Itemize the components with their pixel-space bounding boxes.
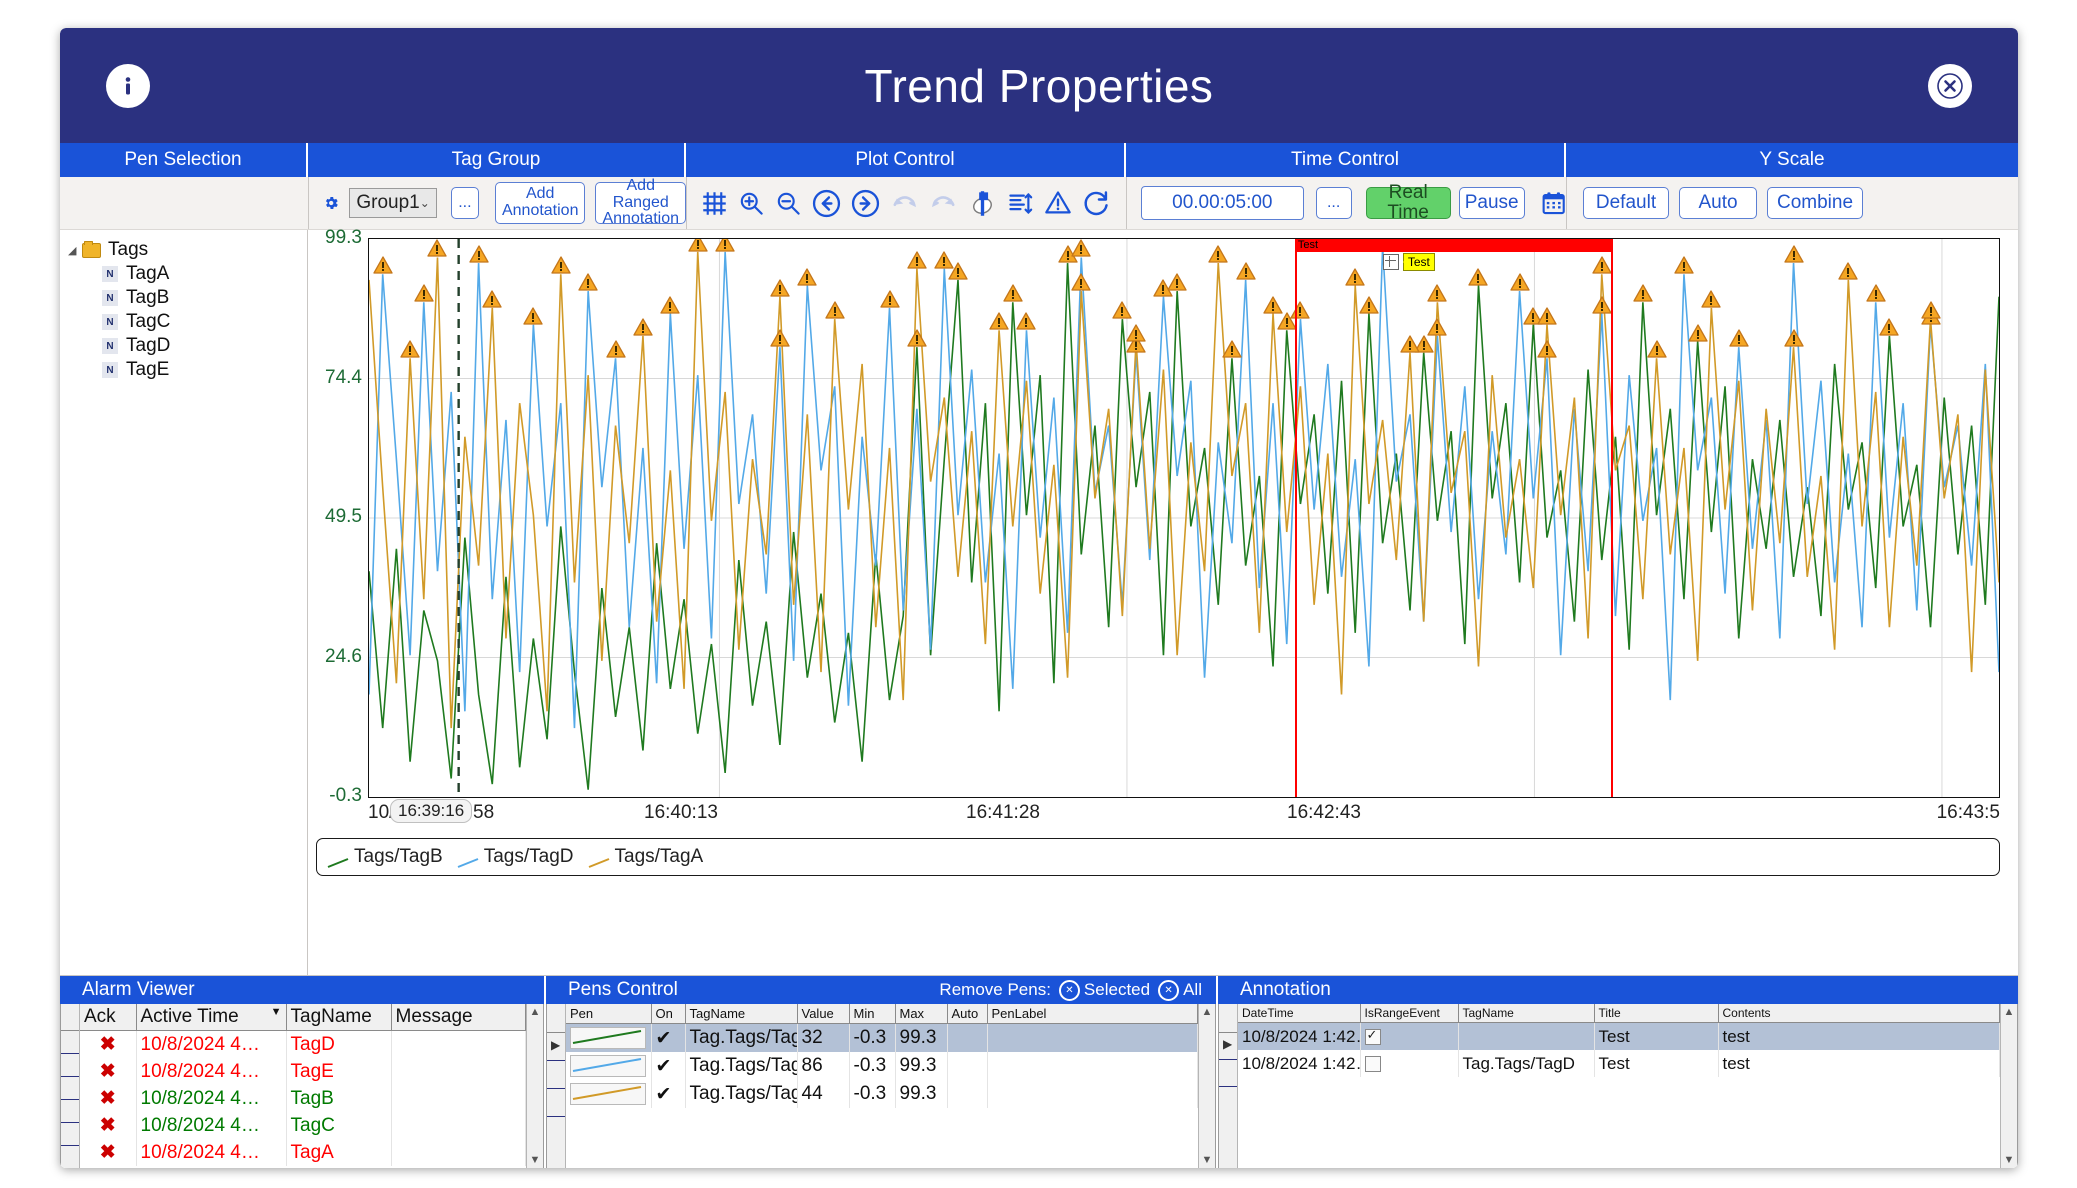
pen-max-cell: 99.3 <box>895 1080 947 1108</box>
alarm-table: Ack Active Time▼ TagName Message ✖10/8/2… <box>80 1004 526 1166</box>
warning-triangle-icon[interactable] <box>1290 301 1310 319</box>
warning-triangle-icon[interactable] <box>934 251 954 269</box>
add-annotation-line1: Add <box>502 186 579 203</box>
legend-swatch <box>588 852 610 862</box>
range-annotation-band[interactable]: Test <box>1295 239 1611 252</box>
tree-root-label: Tags <box>108 239 148 261</box>
remove-selected-radio[interactable]: ✕ Selected <box>1059 980 1150 1001</box>
redo-icon[interactable] <box>929 189 958 218</box>
pen-label-cell[interactable] <box>987 1052 1198 1080</box>
pens-header-row: Pen On TagName Value Min Max Auto PenLab… <box>566 1004 1198 1024</box>
undo-icon[interactable] <box>890 189 919 218</box>
range-start-line <box>1295 239 1297 797</box>
section-time-control: Time Control <box>1126 143 1566 177</box>
section-tag-group: Tag Group <box>308 143 686 177</box>
warning-triangle-icon[interactable] <box>1468 268 1488 286</box>
alarm-tag-cell: TagB <box>286 1085 391 1112</box>
alarm-col-tagname[interactable]: TagName <box>286 1004 391 1031</box>
pen-label-cell[interactable] <box>987 1080 1198 1108</box>
add-ranged-line1: Add Ranged <box>602 178 679 212</box>
legend-item-taga[interactable]: Tags/TagA <box>588 846 704 868</box>
alarm-time-cell: 10/8/2024 4… <box>136 1085 286 1112</box>
scale-icon[interactable] <box>1007 190 1034 217</box>
warning-triangle-icon[interactable] <box>989 312 1009 330</box>
remove-icon: ✕ <box>1158 980 1179 1001</box>
table-row[interactable]: ✔Tag.Tags/TagA44-0.399.3 <box>566 1080 1198 1108</box>
pens-col-penlabel[interactable]: PenLabel <box>987 1004 1198 1024</box>
anno-datetime-cell: 10/8/2024 1:42… <box>1238 1050 1360 1077</box>
warning-triangle-icon[interactable] <box>633 318 653 336</box>
numeric-tag-icon: N <box>102 290 118 306</box>
trend-chart[interactable]: 99.374.449.524.6-0.3 Test Test 10/8/ <box>308 230 2018 975</box>
warning-triangle-icon[interactable] <box>1153 279 1173 297</box>
anno-title-cell: Test <box>1594 1050 1718 1077</box>
tag-group-ellipsis-button[interactable]: ... <box>451 187 479 219</box>
alarm-tag-cell: TagC <box>286 1112 391 1139</box>
alarm-viewer-grid[interactable]: Ack Active Time▼ TagName Message ✖10/8/2… <box>60 1004 544 1168</box>
pen-color-swatch <box>570 1083 646 1105</box>
alarm-icon[interactable] <box>1044 189 1072 217</box>
tree-item-label: TagE <box>126 359 169 381</box>
pens-col-pen[interactable]: Pen <box>566 1004 651 1024</box>
page-title: Trend Properties <box>60 59 2018 113</box>
warning-triangle-icon[interactable] <box>414 284 434 302</box>
toolbar-pen-selection-area <box>60 177 308 229</box>
remove-all-label: All <box>1183 980 1202 1000</box>
warning-triangle-icon[interactable] <box>551 256 571 274</box>
section-y-scale: Y Scale <box>1566 143 2018 177</box>
checkbox[interactable] <box>1365 1056 1381 1072</box>
back-icon[interactable] <box>812 189 841 218</box>
warning-triangle-icon[interactable] <box>523 307 543 325</box>
warning-triangle-icon[interactable] <box>1427 318 1447 336</box>
main-toolbar: Group1 ⌄ ... Add Annotation Add Ranged A… <box>60 177 2018 230</box>
plot-area[interactable]: Test Test <box>368 238 2000 798</box>
table-row[interactable]: 10/8/2024 1:42…Testtest <box>1238 1023 2000 1051</box>
pen-swatch-cell[interactable] <box>566 1052 651 1080</box>
tag-group-select[interactable]: Group1 ⌄ <box>349 188 436 218</box>
pen-on-cell[interactable]: ✔ <box>651 1080 685 1108</box>
alarm-ack-cell[interactable]: ✖ <box>80 1112 136 1139</box>
warning-triangle-icon[interactable] <box>1359 296 1379 314</box>
pen-auto-cell[interactable] <box>947 1024 987 1053</box>
section-plot-control: Plot Control <box>686 143 1126 177</box>
y-tick-2: 49.5 <box>325 506 362 528</box>
pen-min-cell: -0.3 <box>849 1024 895 1053</box>
tree-node-tags[interactable]: ◢ Tags <box>64 238 307 262</box>
anno-col-tagname[interactable]: TagName <box>1458 1004 1594 1023</box>
warning-triangle-icon[interactable] <box>1236 262 1256 280</box>
warning-triangle-icon[interactable] <box>1729 329 1749 347</box>
warning-triangle-icon[interactable] <box>1208 245 1228 263</box>
warning-triangle-icon[interactable] <box>1263 296 1283 314</box>
alarm-col-message[interactable]: Message <box>391 1004 526 1031</box>
pens-scrollbar[interactable]: ▲ ▼ <box>1198 1004 1215 1168</box>
alarm-header-row: Ack Active Time▼ TagName Message <box>80 1004 526 1031</box>
pen-swatch-cell[interactable] <box>566 1080 651 1108</box>
pens-col-on[interactable]: On <box>651 1004 685 1024</box>
pens-control-panel: Pens Control Remove Pens: ✕ Selected ✕ A… <box>546 976 1218 1168</box>
x-tick-1: 16:40:13 <box>644 802 718 824</box>
tree-item-label: TagB <box>126 287 169 309</box>
warning-triangle-icon[interactable] <box>1537 340 1557 358</box>
warning-triangle-icon[interactable] <box>1345 268 1365 286</box>
alarm-row-headers <box>61 1004 80 1168</box>
pen-on-cell[interactable]: ✔ <box>651 1052 685 1080</box>
warning-triangle-icon[interactable] <box>907 251 927 269</box>
warning-triangle-icon[interactable] <box>606 340 626 358</box>
remove-icon: ✕ <box>1059 980 1080 1001</box>
alarm-message-cell <box>391 1031 526 1059</box>
pen-tag-cell: Tag.Tags/TagB <box>685 1024 797 1053</box>
tree-item-label: TagA <box>126 263 169 285</box>
pens-col-min[interactable]: Min <box>849 1004 895 1024</box>
section-pen-selection: Pen Selection <box>60 143 308 177</box>
alarm-message-cell <box>391 1085 526 1112</box>
pen-value-cell: 32 <box>797 1024 849 1053</box>
warning-triangle-icon[interactable] <box>1784 329 1804 347</box>
warning-triangle-icon[interactable] <box>1701 290 1721 308</box>
pen-on-cell[interactable]: ✔ <box>651 1024 685 1053</box>
toolbar-y-scale-area: Default Auto Combine <box>1567 177 2018 229</box>
y-tick-0: 99.3 <box>325 227 362 249</box>
zoom-out-icon[interactable] <box>775 190 802 217</box>
tree-node-tagb[interactable]: NTagB <box>64 286 307 310</box>
warning-triangle-icon[interactable] <box>578 273 598 291</box>
legend-item-tagd[interactable]: Tags/TagD <box>457 846 574 868</box>
chevron-down-icon[interactable]: ◢ <box>68 244 82 257</box>
scroll-down-icon[interactable]: ▼ <box>2004 1154 2015 1166</box>
grid-icon[interactable] <box>701 190 728 217</box>
warning-triangle-icon[interactable] <box>1592 296 1612 314</box>
y-tick-4: -0.3 <box>329 785 362 807</box>
pen-max-cell: 99.3 <box>895 1024 947 1053</box>
warning-triangle-icon[interactable] <box>482 290 502 308</box>
annotation-table: DateTime IsRangeEvent TagName Title Cont… <box>1238 1004 2000 1077</box>
warning-triangle-icon[interactable] <box>1592 256 1612 274</box>
warning-triangle-icon[interactable] <box>469 245 489 263</box>
tree-item-label: TagC <box>126 311 170 333</box>
warning-triangle-icon[interactable] <box>1003 284 1023 302</box>
x-cursor-tooltip: 16:39:16 <box>390 799 472 823</box>
x-axis-labels: 10/8/2 16:39:16 58 16:40:13 16:41:28 16:… <box>368 802 2000 832</box>
main-content: ◢ Tags NTagA NTagB NTagC NTagD NTagE 99.… <box>60 230 2018 975</box>
anno-col-datetime[interactable]: DateTime <box>1238 1004 1360 1023</box>
numeric-tag-icon: N <box>102 362 118 378</box>
pens-table: Pen On TagName Value Min Max Auto PenLab… <box>566 1004 1198 1108</box>
toolbar-plot-control-area <box>687 177 1126 229</box>
tree-node-tagc[interactable]: NTagC <box>64 310 307 334</box>
anno-col-title[interactable]: Title <box>1594 1004 1718 1023</box>
pen-max-cell: 99.3 <box>895 1052 947 1080</box>
table-row[interactable]: ✖10/8/2024 4…TagA <box>80 1139 526 1166</box>
warning-triangle-icon[interactable] <box>400 340 420 358</box>
x-tick-2: 16:41:28 <box>966 802 1040 824</box>
tree-node-tage[interactable]: NTagE <box>64 358 307 382</box>
chart-legend: Tags/TagB Tags/TagD Tags/TagA <box>316 838 2000 876</box>
warning-triangle-icon[interactable] <box>1427 284 1447 302</box>
anno-isrange-cell[interactable] <box>1360 1050 1458 1077</box>
legend-swatch <box>327 852 349 862</box>
warning-triangle-icon[interactable] <box>770 329 790 347</box>
tree-item-label: TagD <box>126 335 170 357</box>
plot-svg <box>369 239 1999 797</box>
x-tick-partial: 58 <box>473 802 494 824</box>
folder-icon <box>82 243 101 258</box>
pen-color-swatch <box>570 1027 646 1049</box>
pens-control-title: Pens Control Remove Pens: ✕ Selected ✕ A… <box>546 976 1216 1004</box>
y-auto-button[interactable]: Auto <box>1679 187 1757 219</box>
anno-contents-cell: test <box>1718 1050 2000 1077</box>
warning-triangle-icon[interactable] <box>373 256 393 274</box>
checkbox[interactable] <box>1365 1029 1381 1045</box>
remove-all-radio[interactable]: ✕ All <box>1158 980 1202 1001</box>
warning-triangle-icon[interactable] <box>1126 324 1146 342</box>
pens-col-value[interactable]: Value <box>797 1004 849 1024</box>
warning-triangle-icon[interactable] <box>660 296 680 314</box>
alarm-ack-cell[interactable]: ✖ <box>80 1085 136 1112</box>
pen-value-cell: 86 <box>797 1052 849 1080</box>
pen-value-cell: 44 <box>797 1080 849 1108</box>
warning-triangle-icon[interactable] <box>1071 239 1091 257</box>
warning-triangle-icon[interactable] <box>688 238 708 252</box>
calendar-icon[interactable] <box>1541 188 1566 218</box>
window-title-bar: Trend Properties <box>60 28 2018 143</box>
pen-min-cell: -0.3 <box>849 1052 895 1080</box>
remove-pens-label: Remove Pens: <box>939 980 1051 1000</box>
alarm-ack-cell[interactable]: ✖ <box>80 1139 136 1166</box>
scroll-up-icon[interactable]: ▲ <box>2004 1006 2015 1018</box>
warning-triangle-icon[interactable] <box>880 290 900 308</box>
alarm-time-cell: 10/8/2024 4… <box>136 1112 286 1139</box>
y-default-button[interactable]: Default <box>1583 187 1669 219</box>
add-ranged-annotation-button[interactable]: Add Ranged Annotation <box>595 182 686 224</box>
alarm-col-ack[interactable]: Ack <box>80 1004 136 1031</box>
bottom-panels: Alarm Viewer Ack Active Time▼ TagName Me… <box>60 975 2018 1168</box>
warning-triangle-icon[interactable] <box>797 268 817 286</box>
gear-icon[interactable] <box>323 188 339 218</box>
remove-selected-label: Selected <box>1084 980 1150 1000</box>
alarm-message-cell <box>391 1058 526 1085</box>
warning-triangle-icon[interactable] <box>1400 335 1420 353</box>
anno-tag-cell: Tag.Tags/TagD <box>1458 1050 1594 1077</box>
y-combine-button[interactable]: Combine <box>1767 187 1863 219</box>
warning-triangle-icon[interactable] <box>1647 340 1667 358</box>
annotation-panel: Annotation ▶ DateTime IsRangeEvent TagNa… <box>1218 976 2018 1168</box>
alarm-scrollbar[interactable]: ▲ ▼ <box>526 1004 543 1168</box>
tag-group-value: Group1 <box>356 192 419 214</box>
table-row[interactable]: ✔Tag.Tags/TagD86-0.399.3 <box>566 1052 1198 1080</box>
warning-triangle-icon[interactable] <box>1838 262 1858 280</box>
warning-triangle-icon[interactable] <box>1674 256 1694 274</box>
legend-swatch <box>457 852 479 862</box>
legend-item-tagb[interactable]: Tags/TagB <box>327 846 443 868</box>
refresh-icon[interactable] <box>1082 189 1110 217</box>
pens-row-headers: ▶ <box>547 1004 566 1168</box>
pointer-icon[interactable] <box>968 189 997 218</box>
pens-col-max[interactable]: Max <box>895 1004 947 1024</box>
warning-triangle-icon[interactable] <box>1222 340 1242 358</box>
anno-datetime-cell: 10/8/2024 1:42… <box>1238 1023 1360 1051</box>
annotation-row-headers: ▶ <box>1219 1004 1238 1168</box>
warning-triangle-icon[interactable] <box>715 238 735 252</box>
alarm-ack-cell[interactable]: ✖ <box>80 1058 136 1085</box>
y-axis-labels: 99.374.449.524.6-0.3 <box>308 230 366 796</box>
warning-triangle-icon[interactable] <box>1879 318 1899 336</box>
table-row[interactable]: ✖10/8/2024 4…TagD <box>80 1031 526 1059</box>
add-annotation-line2: Annotation <box>502 203 579 220</box>
scroll-up-icon[interactable]: ▲ <box>530 1006 541 1018</box>
alarm-tag-cell: TagE <box>286 1058 391 1085</box>
alarm-viewer-title: Alarm Viewer <box>60 976 544 1004</box>
legend-label: Tags/TagA <box>615 846 704 868</box>
annotation-grid[interactable]: ▶ DateTime IsRangeEvent TagName Title Co… <box>1218 1004 2018 1168</box>
warning-triangle-icon[interactable] <box>1510 273 1530 291</box>
pens-col-auto[interactable]: Auto <box>947 1004 987 1024</box>
annotation-scrollbar[interactable]: ▲ ▼ <box>2000 1004 2017 1168</box>
alarm-time-cell: 10/8/2024 4… <box>136 1058 286 1085</box>
tree-node-tagd[interactable]: NTagD <box>64 334 307 358</box>
alarm-message-cell <box>391 1139 526 1166</box>
table-row[interactable]: ✔Tag.Tags/TagB32-0.399.3 <box>566 1024 1198 1053</box>
time-ellipsis-button[interactable]: ... <box>1316 187 1352 219</box>
annotation-grid-icon <box>1383 254 1399 270</box>
warning-triangle-icon[interactable] <box>1866 284 1886 302</box>
duration-input[interactable]: 00.00:05:00 <box>1141 186 1304 220</box>
legend-label: Tags/TagD <box>484 846 574 868</box>
warning-triangle-icon[interactable] <box>427 239 447 257</box>
real-time-button[interactable]: Real Time <box>1366 187 1451 219</box>
forward-icon[interactable] <box>851 189 880 218</box>
alarm-ack-cell[interactable]: ✖ <box>80 1031 136 1059</box>
warning-triangle-icon[interactable] <box>1784 245 1804 263</box>
add-ranged-line2: Annotation <box>602 211 679 228</box>
annotation-header-row: DateTime IsRangeEvent TagName Title Cont… <box>1238 1004 2000 1023</box>
scroll-up-icon[interactable]: ▲ <box>1202 1006 1213 1018</box>
zoom-in-icon[interactable] <box>738 190 765 217</box>
x-tick-4: 16:43:5 <box>1937 802 2000 824</box>
alarm-viewer-panel: Alarm Viewer Ack Active Time▼ TagName Me… <box>60 976 546 1168</box>
pause-button[interactable]: Pause <box>1459 187 1525 219</box>
warning-triangle-icon[interactable] <box>1112 301 1132 319</box>
range-end-line <box>1611 239 1613 797</box>
numeric-tag-icon: N <box>102 314 118 330</box>
warning-triangle-icon[interactable] <box>1633 284 1653 302</box>
table-row[interactable]: ✖10/8/2024 4…TagE <box>80 1058 526 1085</box>
alarm-tag-cell: TagA <box>286 1139 391 1166</box>
table-row[interactable]: ✖10/8/2024 4…TagC <box>80 1112 526 1139</box>
warning-triangle-icon[interactable] <box>1537 307 1557 325</box>
pen-tag-cell: Tag.Tags/TagA <box>685 1080 797 1108</box>
warning-triangle-icon[interactable] <box>1016 312 1036 330</box>
pen-auto-cell[interactable] <box>947 1052 987 1080</box>
pen-color-swatch <box>570 1055 646 1077</box>
warning-triangle-icon[interactable] <box>1921 301 1941 319</box>
pen-selection-tree: ◢ Tags NTagA NTagB NTagC NTagD NTagE <box>60 230 308 975</box>
numeric-tag-icon: N <box>102 338 118 354</box>
anno-title-cell: Test <box>1594 1023 1718 1051</box>
toolbar-time-control-area: 00.00:05:00 ... Real Time Pause <box>1127 177 1566 229</box>
toolbar-tag-group-area: Group1 ⌄ ... Add Annotation Add Ranged A… <box>309 177 686 229</box>
y-tick-1: 74.4 <box>325 367 362 389</box>
tree-node-taga[interactable]: NTagA <box>64 262 307 286</box>
pens-control-title-text: Pens Control <box>568 979 678 1001</box>
anno-col-israngeevent[interactable]: IsRangeEvent <box>1360 1004 1458 1023</box>
pen-swatch-cell[interactable] <box>566 1024 651 1053</box>
point-annotation-callout[interactable]: Test <box>1383 253 1435 271</box>
anno-isrange-cell[interactable] <box>1360 1023 1458 1051</box>
range-annotation-label: Test <box>1295 239 1611 252</box>
close-icon[interactable] <box>1928 64 1972 108</box>
section-header-bar: Pen Selection Tag Group Plot Control Tim… <box>60 143 2018 177</box>
pen-tag-cell: Tag.Tags/TagD <box>685 1052 797 1080</box>
trend-properties-window: Trend Properties Pen Selection Tag Group… <box>60 28 2018 1168</box>
table-row[interactable]: ✖10/8/2024 4…TagB <box>80 1085 526 1112</box>
legend-label: Tags/TagB <box>354 846 443 868</box>
alarm-time-cell: 10/8/2024 4… <box>136 1031 286 1059</box>
numeric-tag-icon: N <box>102 266 118 282</box>
annotation-title: Annotation <box>1218 976 2018 1004</box>
pens-control-grid[interactable]: ▶ Pen On TagName Value Min Max Auto <box>546 1004 1216 1168</box>
warning-triangle-icon[interactable] <box>825 301 845 319</box>
warning-triangle-icon[interactable] <box>907 329 927 347</box>
add-annotation-button[interactable]: Add Annotation <box>495 182 586 224</box>
pen-min-cell: -0.3 <box>849 1080 895 1108</box>
table-row[interactable]: 10/8/2024 1:42…Tag.Tags/TagDTesttest <box>1238 1050 2000 1077</box>
scroll-down-icon[interactable]: ▼ <box>530 1154 541 1166</box>
chevron-down-icon: ⌄ <box>420 196 430 210</box>
anno-tag-cell <box>1458 1023 1594 1051</box>
anno-col-contents[interactable]: Contents <box>1718 1004 2000 1023</box>
pens-col-tagname[interactable]: TagName <box>685 1004 797 1024</box>
warning-triangle-icon[interactable] <box>770 279 790 297</box>
pen-auto-cell[interactable] <box>947 1080 987 1108</box>
anno-contents-cell: test <box>1718 1023 2000 1051</box>
scroll-down-icon[interactable]: ▼ <box>1202 1154 1213 1166</box>
alarm-tag-cell: TagD <box>286 1031 391 1059</box>
pen-label-cell[interactable] <box>987 1024 1198 1053</box>
alarm-message-cell <box>391 1112 526 1139</box>
callout-label: Test <box>1403 253 1435 271</box>
x-tick-3: 16:42:43 <box>1287 802 1361 824</box>
warning-triangle-icon[interactable] <box>1071 273 1091 291</box>
alarm-col-active-time[interactable]: Active Time▼ <box>136 1004 286 1031</box>
y-tick-3: 24.6 <box>325 646 362 668</box>
warning-triangle-icon[interactable] <box>1688 324 1708 342</box>
alarm-time-cell: 10/8/2024 4… <box>136 1139 286 1166</box>
